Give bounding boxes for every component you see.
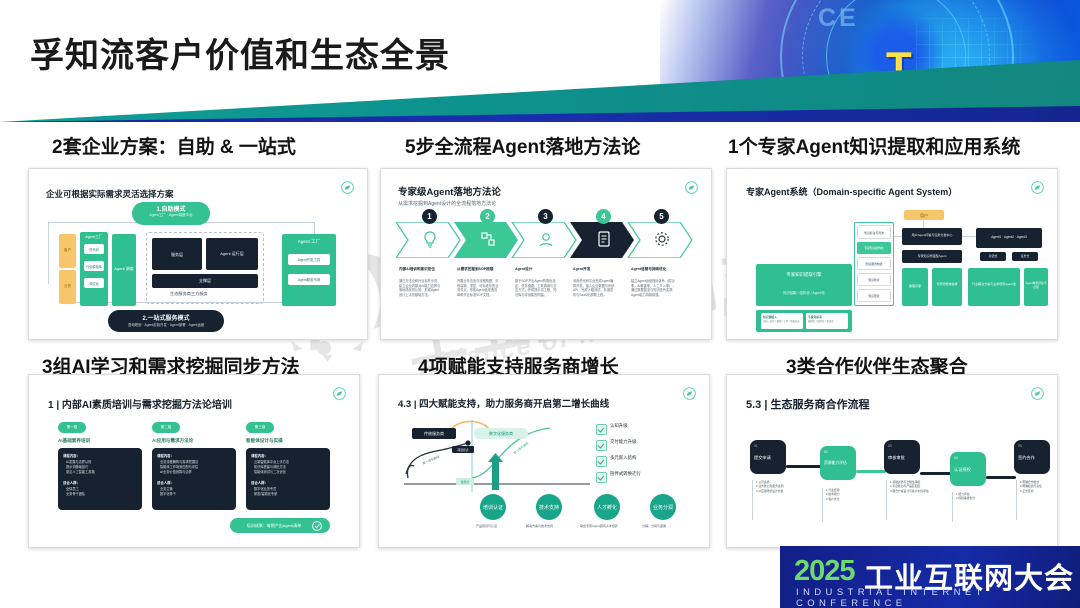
panel4-item: 常见人工智能工具箱 — [66, 470, 142, 475]
panel1-mode1-pill[interactable]: 1.自助模式 Agent工厂 · Agent调度平台 — [132, 202, 210, 225]
panel1-mode2-title: 2.一站式服务模式 — [108, 313, 224, 322]
panel-card-6[interactable]: 5.3 | 生态服务商合作流程 01 提交申请 02 资源能力评估 03 审核审… — [726, 374, 1058, 548]
panel5-caption-0: 产品培训与认证 — [476, 524, 497, 528]
panel2-stepnum-4: 4 — [596, 209, 611, 224]
panel1-left-label-1: 业务 — [59, 284, 76, 289]
panel1-mode2-pill[interactable]: 2.一站式服务模式 咨询规划 · Agent定制开发 · Agent部署 · A… — [108, 310, 224, 332]
panel2-step-label-3: Agent设计 — [515, 267, 567, 272]
panel5-bottom-mark: 赋能点 — [456, 478, 474, 485]
panel2-stepnum-1: 1 — [422, 209, 437, 224]
panel6-card-title: 5.3 | 生态服务商合作流程 — [746, 396, 869, 412]
panel1-factory-label: Agent工厂 — [80, 235, 108, 240]
panel1-center-b2: Agent 运行层 — [206, 238, 258, 270]
check-circle-icon — [312, 521, 322, 531]
panel1-left-block-0: 客户 — [59, 234, 76, 268]
panel4-badge-1: 第二组 — [152, 422, 180, 433]
panel5-check-label-3: 陪伴式转换迁行 — [610, 471, 641, 477]
panel3-right-box-1: Agent效果评估与反馈 — [1024, 268, 1048, 306]
panel4-card-1: 课程内容： 业务流程解构与需求挖掘法 智能体工作场景匹配与评估 AI业务价值测算… — [152, 448, 236, 510]
panel6-detail-3: 1.能力评估 2.授权等级划分 — [956, 492, 998, 501]
panel4-card-2: 课程内容： 云端智能体平台上手方法 知识库搭建与调优方法 智能体测试与二次优化 … — [246, 448, 330, 510]
panel1-right-item-0: Agent开发工具 — [288, 254, 330, 265]
panel6-step-3[interactable]: 04 认证授权 — [950, 452, 986, 486]
leaf-icon — [1031, 387, 1044, 400]
panel4-subtitle-0: AI基础素养培训 — [58, 438, 90, 444]
panel3-mid-item-4: 知识更新 — [857, 289, 891, 302]
panel4-item: 研发/智能化专家 — [254, 492, 330, 497]
panel3-mid-item-0: 知识标注与清洗 — [857, 225, 891, 239]
panel2-step-label-5: Agent运营与持续优化 — [631, 267, 687, 272]
route-line — [48, 222, 49, 284]
flow-connector — [786, 465, 822, 468]
logo-year: 2025 — [794, 555, 855, 588]
leaf-icon — [341, 181, 354, 194]
panel-card-1[interactable]: 企业可根据实际需求灵活选择方案 1.自助模式 Agent工厂 · Agent调度… — [28, 168, 368, 340]
panel4-item: 智能体测试与二次优化 — [254, 470, 330, 475]
panel5-check-label-0: 认知升级 — [610, 423, 628, 429]
panel-heading-3: 1个专家Agent知识提取和应用系统 — [728, 132, 1020, 159]
panel4-badge-0: 第一组 — [58, 422, 86, 433]
gear-icon — [653, 230, 671, 248]
panel4-item: AI业务价值测算与边界 — [160, 470, 236, 475]
panel2-stepnum-2: 2 — [480, 209, 495, 224]
panel6-step-0[interactable]: 01 提交申请 — [750, 440, 786, 474]
slide-header: CE T 孚知流客户价值和生态全景 — [0, 0, 1080, 122]
panel3-mid-item-3: 知识检索 — [857, 273, 891, 286]
panel1-center-caption: 生态服务商三方服务 — [170, 291, 208, 297]
leaf-icon — [683, 387, 696, 400]
panel5-card-title: 4.3 | 四大赋能支持，助力服务商开启第二增长曲线 — [398, 396, 609, 410]
panel6-step-1[interactable]: 02 资源能力评估 — [820, 446, 856, 480]
panel3-mid-item-1: 专家知识结构化 — [857, 242, 891, 254]
route-line — [962, 236, 976, 237]
panel4-item: 数字化骨干 — [160, 492, 236, 497]
panel3-agents-box: Agent1 · Agent2 · Agent3 — [976, 228, 1042, 248]
lightbulb-icon — [421, 230, 439, 248]
panel1-scheduler: Agent 调度 — [112, 234, 136, 306]
panel1-left-label-0: 客户 — [59, 248, 76, 253]
conference-logo: 2025 工业互联网大会 INDUSTRIAL INTERNET CONFERE… — [780, 546, 1080, 608]
panel-card-3[interactable]: 专家Agent系统（Domain-specific Agent System） … — [726, 168, 1058, 340]
panel5-caption-2: 联合专家Agent顾问人才培养 — [580, 524, 636, 528]
panel-heading-2: 5步全流程Agent落地方法论 — [405, 132, 640, 159]
panel-card-5[interactable]: 4.3 | 四大赋能支持，助力服务商开启第二增长曲线 传统服务商 数字化服务商 … — [378, 374, 710, 548]
panel5-label-new: 数字化服务商 — [474, 428, 528, 439]
panel1-left-block-1: 业务 — [59, 270, 76, 304]
panel1-center-b3: 支撑层 — [152, 274, 258, 288]
panel3-right-box-0: 行业解决方案与业务场景Agent池 — [968, 268, 1020, 306]
panel5-circle-1: 技术支持 — [536, 494, 562, 520]
detail-rule — [1016, 480, 1017, 520]
panel5-caption-3: 分销、分润与返佣 — [642, 524, 666, 528]
panel2-step-body-3: 基于SOP产出Agent的角色设定、任务链路、工具调用与交互方式，完成提示词工程… — [515, 279, 557, 298]
logo-en-name: INDUSTRIAL INTERNET CONFERENCE — [796, 587, 1080, 608]
panel1-right-item-1: Agent服务市场 — [288, 274, 330, 285]
panel2-step-body-4: 采用低代码平台完成Agent编排开发，接入企业数据与系统API，完成沙箱测试、灰… — [573, 279, 615, 298]
leaf-icon — [685, 181, 698, 194]
panel4-item: 业务骨干团队 — [66, 492, 142, 497]
panel5-circle-0: 培训认证 — [480, 494, 506, 520]
panel1-mode2-sub: 咨询规划 · Agent定制开发 · Agent部署 · Agent运维 — [108, 322, 224, 327]
panel3-mid2-1: 专家智能体编排 — [932, 268, 962, 306]
panel2-stepnum-5: 5 — [654, 209, 669, 224]
panel2-step-body-5: 建立Agent运营指标体系（成功率、AI覆盖率、人工介入率），通过数据回流与知识… — [631, 279, 677, 298]
document-icon — [595, 230, 613, 248]
checkbox-icon[interactable] — [596, 456, 607, 467]
panel2-step-body-1: 通过方法论和行业标杆示范，建立企业内部对AI能力边界与落地场景的认知，形成Age… — [399, 279, 441, 298]
panel5-check-label-2: 多元嵌入结构 — [610, 455, 636, 461]
panel3-mid-item-2: 知识图谱构建 — [857, 257, 891, 270]
flow-connector — [986, 476, 1016, 479]
panel1-factory-item-1: 行业模板库 — [84, 261, 104, 271]
process-icon — [479, 230, 497, 248]
panel2-step-body-2: 开展业务访谈与流程梳理，识别高频、重复、可标准化的业务节点，形成Agent化改造… — [457, 279, 499, 298]
panel1-scheduler-label: Agent 调度 — [112, 266, 136, 272]
panel2-card-sub: 从需求挖掘到Agent设计的全流程落地方法论 — [398, 200, 496, 207]
panel6-step-2[interactable]: 03 审核审批 — [884, 440, 920, 474]
panel1-right-title: Agent 工厂 — [282, 239, 336, 245]
flow-connector — [856, 470, 886, 473]
leaf-icon — [1031, 181, 1044, 194]
panel5-caption-1: 解决方案与技术支持 — [526, 524, 553, 528]
route-line — [923, 220, 924, 228]
flow-connector — [920, 472, 952, 475]
panel5-turning-point: 转型拐点 — [452, 446, 474, 453]
panel6-step-4[interactable]: 05 签约合作 — [1014, 440, 1050, 474]
panel1-mode1-title: 1.自助模式 — [132, 204, 210, 213]
panel3-mid2-0: 推理引擎 — [902, 268, 928, 306]
panel3-tag-0: 对话式 — [980, 252, 1006, 261]
panel-card-2[interactable]: 专家级Agent落地方法论 从需求挖掘到Agent设计的全流程落地方法论 — [380, 168, 712, 340]
panel2-card-title: 专家级Agent落地方法论 — [398, 184, 501, 198]
panel4-badge-2: 第三组 — [246, 422, 274, 433]
panel3-left-col: 专家知识提取引擎 知识抽取 / 结构化 / Agent化 — [756, 264, 852, 306]
detail-rule — [822, 488, 823, 522]
detail-rule — [752, 480, 753, 520]
panel3-user-box: 用户 — [904, 210, 944, 220]
panel3-left-card-0: 知识源接入 文档 / 录音 / 视频 / 工单 / 系统日志 — [761, 313, 803, 329]
panel4-card-title: 1 | 内部AI素质培训与需求挖掘方法论培训 — [48, 396, 232, 411]
panel1-card-title: 企业可根据实际需求灵活选择方案 — [46, 188, 174, 200]
panel3-left-sub: 知识抽取 / 结构化 / Agent化 — [756, 290, 852, 295]
panel6-detail-4: 1.明确合作模式 2.明确权益与责任 3.正式签约 — [1020, 480, 1058, 493]
page-title: 孚知流客户价值和生态全景 — [30, 28, 450, 77]
panel3-dark-1: 专家知识增强型Agent — [902, 250, 962, 263]
panel1-factory-item-2: 调试台 — [84, 278, 104, 288]
panel1-factory-item-0: 低代码 — [84, 244, 104, 254]
panel5-circle-3: 业务分润 — [650, 494, 676, 520]
panel2-step-label-4: Agent开发 — [573, 267, 625, 272]
panel5-circle-2: 人才孵化 — [594, 494, 620, 520]
detail-rule — [952, 492, 953, 522]
panel3-tag-1: 任务式 — [1012, 252, 1038, 261]
detail-rule — [886, 480, 887, 520]
checkbox-icon[interactable] — [596, 440, 607, 451]
panel4-card-0: 课程内容： AI发展与边界认知 提示词基础技巧 常见人工智能工具箱 适合人群： … — [58, 448, 142, 510]
panel6-detail-0: 1.公司资质 2.业务能力及服务案例 3.AI应用场景设计方案 — [756, 480, 798, 493]
panel6-detail-2: 1.基础资质与合规性审核 2.平台能力与产品匹配度 3.联合方案设计与客户价值评… — [890, 480, 946, 493]
checkbox-icon[interactable] — [596, 424, 607, 435]
panel3-left-card-1: 专家知识库 规则库 / 案例库 / 术语库 — [806, 313, 848, 329]
panel3-dark-0: 用户Agent问答与任务分发中心 — [902, 228, 962, 245]
gear-people-icon — [537, 230, 555, 248]
panel4-subtitle-1: AI应用与需求方法论 — [152, 438, 193, 444]
panel1-right-col: Agent 工厂 — [282, 234, 336, 306]
panel1-mode1-sub: Agent工厂 · Agent调度平台 — [132, 213, 210, 218]
checkbox-icon[interactable] — [596, 472, 607, 483]
route-line — [894, 236, 902, 237]
panel2-step-label-1: 内部AI培训和意识定位 — [399, 267, 451, 272]
panel6-detail-1: 1.行业经验 2.技术能力 3.客户交付 — [826, 488, 866, 501]
leaf-icon — [333, 387, 346, 400]
panel4-subtitle-2: 智能体设计与实操 — [246, 438, 283, 444]
panel3-card-title: 专家Agent系统（Domain-specific Agent System） — [746, 185, 957, 198]
presentation-slide: CE T 孚知流客户价值和生态全景 工业互联网产业联盟 Alliance of … — [0, 0, 1080, 608]
panel-heading-1: 2套企业方案：自助 & 一站式 — [52, 132, 296, 159]
panel3-left-title: 专家知识提取引擎 — [756, 272, 852, 278]
panel1-center-b1: 服务层 — [152, 238, 202, 270]
panel5-label-old: 传统服务商 — [412, 428, 456, 439]
panel2-step-label-2: 从需求挖掘到SOP梳理 — [457, 267, 509, 272]
panel2-stepnum-3: 3 — [538, 209, 553, 224]
panel-card-4[interactable]: 1 | 内部AI素质培训与需求挖掘方法论培训 第一组 AI基础素养培训 课程内容… — [28, 374, 360, 548]
panel5-check-label-1: 交付能力升级 — [610, 439, 636, 445]
